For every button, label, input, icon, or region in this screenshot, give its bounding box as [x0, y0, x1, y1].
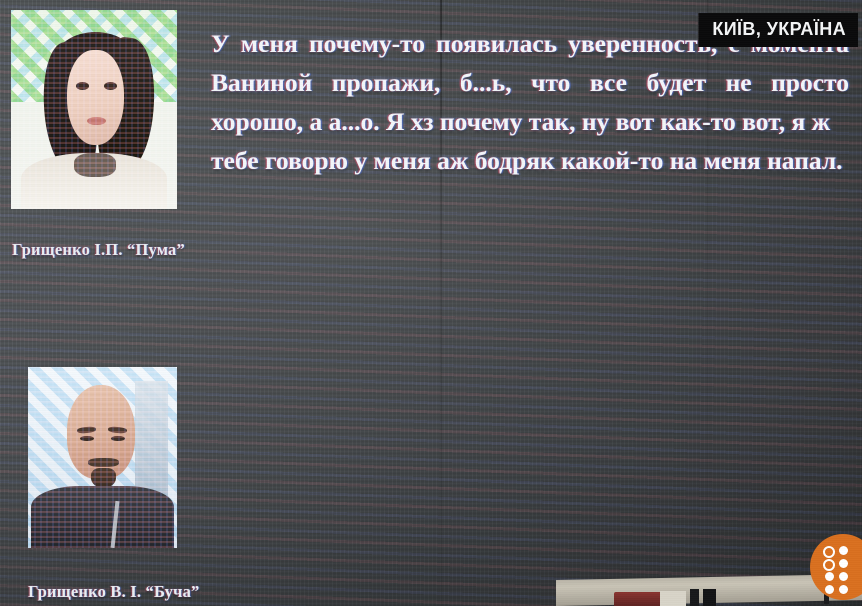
quote-word: уверенность, — [568, 24, 717, 63]
location-badge-label: КИЇВ, УКРАЇНА — [712, 19, 846, 39]
logo-dot — [839, 572, 848, 581]
quote-word: просто — [771, 63, 849, 102]
quote-word: будет — [646, 63, 706, 102]
quote-word: меня — [241, 24, 298, 63]
photo-2-projector-wash — [28, 367, 177, 548]
logo-dot — [839, 559, 848, 568]
channel-logo-dot-grid — [822, 544, 850, 596]
slide-quote-block: У меня почему-то появилась уверенность, … — [211, 24, 849, 180]
desk-object-red — [614, 592, 666, 606]
logo-dot — [839, 546, 848, 555]
quote-word: б...ь, — [460, 63, 512, 102]
logo-dot — [823, 559, 835, 571]
logo-dot — [823, 546, 835, 558]
logo-dot — [825, 585, 834, 594]
logo-dot — [839, 585, 848, 594]
photo-1-projector-wash — [11, 10, 177, 209]
desk-object-white — [660, 591, 686, 606]
logo-dot — [825, 572, 834, 581]
photo-1-caption: Грищенко І.П. “Пума” — [12, 240, 185, 260]
quote-line-2: Ваниной пропажи, б...ь, что все будет не… — [211, 63, 849, 102]
desk-object-dark-1 — [690, 589, 699, 606]
broadcast-frame: Грищенко І.П. “Пума” Грищенко В. І. “Буч… — [0, 0, 862, 606]
photo-gryshchenko-i-p — [11, 10, 177, 209]
quote-word: почему-то — [309, 24, 425, 63]
location-badge: КИЇВ, УКРАЇНА — [698, 13, 858, 47]
desk-object-dark-2 — [703, 589, 716, 606]
quote-word: все — [590, 63, 627, 102]
quote-word: не — [726, 63, 752, 102]
quote-line-3: хорошо, а а...о. Я хз почему так, ну вот… — [211, 102, 849, 141]
photo-gryshchenko-v-i — [28, 367, 177, 548]
photo-2-caption: Грищенко В. І. “Буча” — [28, 582, 200, 602]
quote-word: что — [531, 63, 570, 102]
quote-line-4: тебе говорю у меня аж бодряк какой-то на… — [211, 141, 849, 180]
quote-word: У — [211, 24, 230, 63]
quote-word: появилась — [436, 24, 557, 63]
quote-word: пропажи, — [332, 63, 441, 102]
quote-word: Ваниной — [211, 63, 312, 102]
